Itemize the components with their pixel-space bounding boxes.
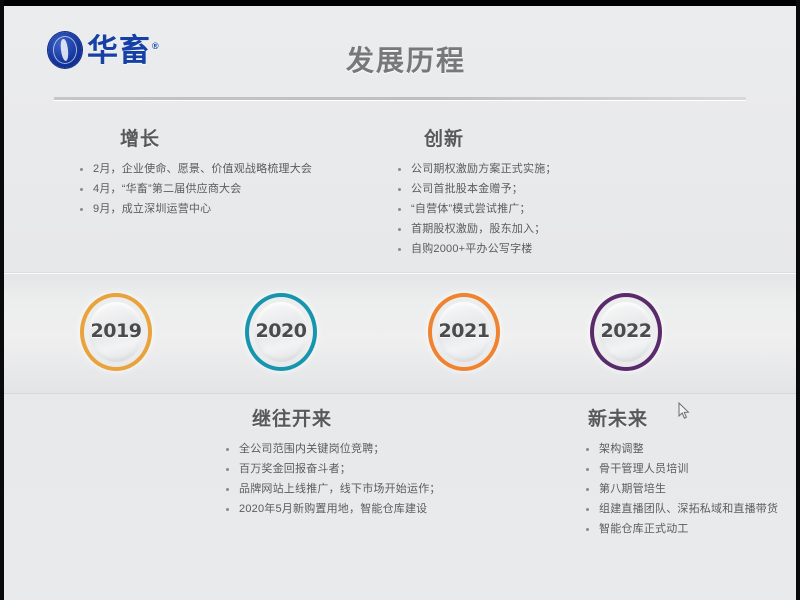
list-item: 2月，企业使命、愿景、价值观战略梳理大会 <box>76 161 336 178</box>
timeline-node-2022[interactable]: 2022 <box>590 293 666 375</box>
company-logo-text: 华畜® <box>87 35 160 66</box>
list-item: 公司期权激励方案正式实施； <box>394 161 644 178</box>
company-logo: 华畜® <box>48 32 160 68</box>
list-item: 百万奖金回报奋斗者； <box>222 461 457 478</box>
section-growth-heading: 增长 <box>120 124 336 151</box>
list-item: 9月，成立深圳运营中心 <box>76 201 336 218</box>
header-divider <box>54 97 746 101</box>
list-item: 第八期管培生 <box>582 481 796 498</box>
timeline-year-label: 2022 <box>590 320 662 342</box>
section-heritage-heading: 继往开来 <box>252 404 457 431</box>
section-future: 新未来 架构调整 骨干管理人员培训 第八期管培生 组建直播团队、深拓私域和直播带… <box>582 404 796 541</box>
section-innovation-list: 公司期权激励方案正式实施； 公司首批股本金赠予； “自营体”模式尝试推广； 首期… <box>394 161 644 258</box>
timeline-band: 2019 2020 2021 2022 <box>4 272 796 394</box>
list-item: 组建直播团队、深拓私域和直播带货 <box>582 501 796 518</box>
section-heritage: 继往开来 全公司范围内关键岗位竞聘； 百万奖金回报奋斗者； 品牌网站上线推广，线… <box>222 404 457 521</box>
timeline-year-label: 2020 <box>245 320 317 342</box>
company-logo-icon <box>48 32 82 68</box>
section-future-list: 架构调整 骨干管理人员培训 第八期管培生 组建直播团队、深拓私域和直播带货 智能… <box>582 441 796 538</box>
letterbox-bar-right <box>796 0 800 600</box>
presentation-slide: 华畜® 发展历程 增长 2月，企业使命、愿景、价值观战略梳理大会 4月，“华畜”… <box>0 0 800 600</box>
section-future-heading: 新未来 <box>588 404 796 431</box>
list-item: “自营体”模式尝试推广； <box>394 201 644 218</box>
list-item: 品牌网站上线推广，线下市场开始运作； <box>222 481 457 498</box>
section-heritage-list: 全公司范围内关键岗位竞聘； 百万奖金回报奋斗者； 品牌网站上线推广，线下市场开始… <box>222 441 457 518</box>
list-item: 智能仓库正式动工 <box>582 521 796 538</box>
timeline-year-label: 2019 <box>80 320 152 342</box>
section-innovation: 创新 公司期权激励方案正式实施； 公司首批股本金赠予； “自营体”模式尝试推广；… <box>394 124 644 261</box>
timeline-year-label: 2021 <box>428 320 500 342</box>
registered-trademark-icon: ® <box>152 41 160 51</box>
timeline-node-2021[interactable]: 2021 <box>428 293 504 375</box>
section-growth-list: 2月，企业使命、愿景、价值观战略梳理大会 4月，“华畜”第二届供应商大会 9月，… <box>76 161 336 218</box>
list-item: 骨干管理人员培训 <box>582 461 796 478</box>
list-item: 架构调整 <box>582 441 796 458</box>
list-item: 全公司范围内关键岗位竞聘； <box>222 441 457 458</box>
page-title: 发展历程 <box>346 39 466 79</box>
timeline-node-2019[interactable]: 2019 <box>80 293 156 375</box>
section-innovation-heading: 创新 <box>424 124 644 151</box>
company-logo-label: 华畜 <box>87 33 151 68</box>
timeline-node-2020[interactable]: 2020 <box>245 293 321 375</box>
slide-header: 华畜® 发展历程 <box>4 6 796 98</box>
slide-canvas: 华畜® 发展历程 增长 2月，企业使命、愿景、价值观战略梳理大会 4月，“华畜”… <box>4 6 796 600</box>
list-item: 2020年5月新购置用地，智能仓库建设 <box>222 501 457 518</box>
list-item: 4月，“华畜”第二届供应商大会 <box>76 181 336 198</box>
list-item: 首期股权激励，股东加入； <box>394 221 644 238</box>
list-item: 公司首批股本金赠予； <box>394 181 644 198</box>
section-growth: 增长 2月，企业使命、愿景、价值观战略梳理大会 4月，“华畜”第二届供应商大会 … <box>76 124 336 221</box>
list-item: 自购2000+平办公写字楼 <box>394 241 644 258</box>
